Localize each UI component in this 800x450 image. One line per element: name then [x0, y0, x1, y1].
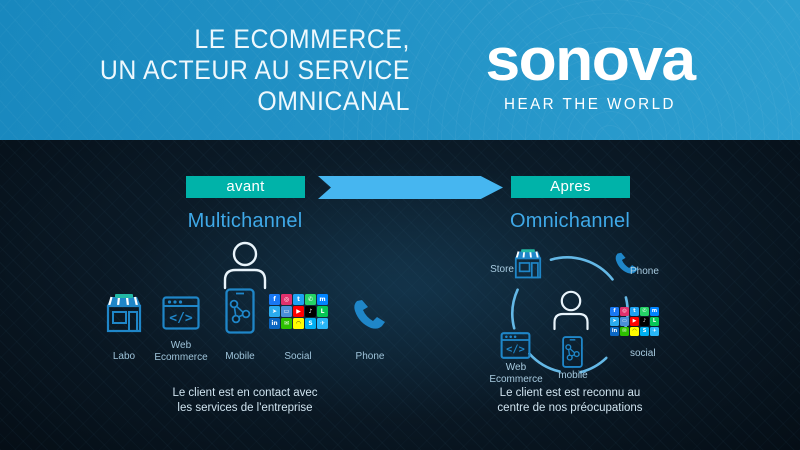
- mobile-network-icon: [225, 288, 255, 334]
- social-app-linkedin: in: [610, 327, 619, 336]
- social-grid-icon: f◎t✆m➤▭▶♪Lin✉◠S✈: [610, 307, 659, 336]
- social-app-wechat: ✉: [620, 327, 629, 336]
- social-app-whatsapp: ✆: [305, 294, 316, 305]
- social-app-telegram2: ✈: [317, 318, 328, 329]
- caption-multichannel: Le client est en contact avec les servic…: [125, 386, 365, 416]
- badge-before: avant: [186, 176, 305, 198]
- social-app-video: ▭: [620, 317, 629, 326]
- social-app-facebook: f: [610, 307, 619, 316]
- mobile-network-icon: [562, 336, 583, 368]
- social-app-twitter: t: [293, 294, 304, 305]
- social-app-telegram: ➤: [610, 317, 619, 326]
- person-icon: [552, 289, 590, 329]
- brand-logo: sonova HEAR THE WORLD: [470, 30, 710, 114]
- store-icon: [512, 249, 544, 280]
- social-app-twitter: t: [630, 307, 639, 316]
- social-app-line: L: [317, 306, 328, 317]
- social-grid-icon: f◎t✆m➤▭▶♪Lin✉◠S✈: [269, 294, 328, 329]
- social-app-skype: S: [305, 318, 316, 329]
- header-banner: LE ECOMMERCE, UN ACTEUR AU SERVICE OMNIC…: [0, 0, 800, 140]
- social-app-tiktok: ♪: [305, 306, 316, 317]
- social-app-instagram: ◎: [620, 307, 629, 316]
- social-app-linkedin: in: [269, 318, 280, 329]
- brand-tagline: HEAR THE WORLD: [476, 96, 704, 114]
- social-app-messenger: m: [317, 294, 328, 305]
- infographic-slide: LE ECOMMERCE, UN ACTEUR AU SERVICE OMNIC…: [0, 0, 800, 450]
- social-app-whatsapp: ✆: [640, 307, 649, 316]
- person-icon: [222, 240, 268, 288]
- channel-label-store: Store: [468, 264, 514, 276]
- channel-label-mobile-right: mobile: [548, 370, 598, 382]
- social-app-youtube: ▶: [630, 317, 639, 326]
- social-app-instagram: ◎: [281, 294, 292, 305]
- section-title-omnichannel: Omnichannel: [475, 210, 665, 233]
- store-icon: [103, 294, 145, 334]
- social-app-messenger: m: [650, 307, 659, 316]
- social-app-skype: S: [640, 327, 649, 336]
- transition-arrow: [318, 176, 503, 199]
- web-code-icon: </>: [162, 296, 200, 330]
- channel-label-web-ecommerce-right: Web Ecommerce: [480, 362, 552, 385]
- page-title: LE ECOMMERCE, UN ACTEUR AU SERVICE OMNIC…: [88, 24, 410, 117]
- channel-label-phone: Phone: [334, 351, 406, 363]
- caption-omnichannel: Le client est est reconnu au centre de n…: [450, 386, 690, 416]
- section-title-multichannel: Multichannel: [150, 210, 340, 233]
- social-app-tiktok: ♪: [640, 317, 649, 326]
- channel-label-social: Social: [262, 351, 334, 363]
- social-app-telegram: ➤: [269, 306, 280, 317]
- channel-label-social-right: social: [630, 348, 680, 360]
- web-code-icon: </>: [500, 332, 531, 359]
- social-app-facebook: f: [269, 294, 280, 305]
- channel-label-phone-right: Phone: [630, 266, 676, 278]
- social-app-youtube: ▶: [293, 306, 304, 317]
- svg-text:</>: </>: [506, 344, 525, 356]
- brand-name: sonova: [465, 30, 715, 90]
- svg-text:</>: </>: [169, 311, 193, 326]
- social-app-snapchat: ◠: [293, 318, 304, 329]
- social-app-line: L: [650, 317, 659, 326]
- badge-after: Apres: [511, 176, 630, 198]
- social-app-telegram2: ✈: [650, 327, 659, 336]
- social-app-snapchat: ◠: [630, 327, 639, 336]
- social-app-video: ▭: [281, 306, 292, 317]
- social-app-wechat: ✉: [281, 318, 292, 329]
- phone-handset-icon: [352, 299, 388, 332]
